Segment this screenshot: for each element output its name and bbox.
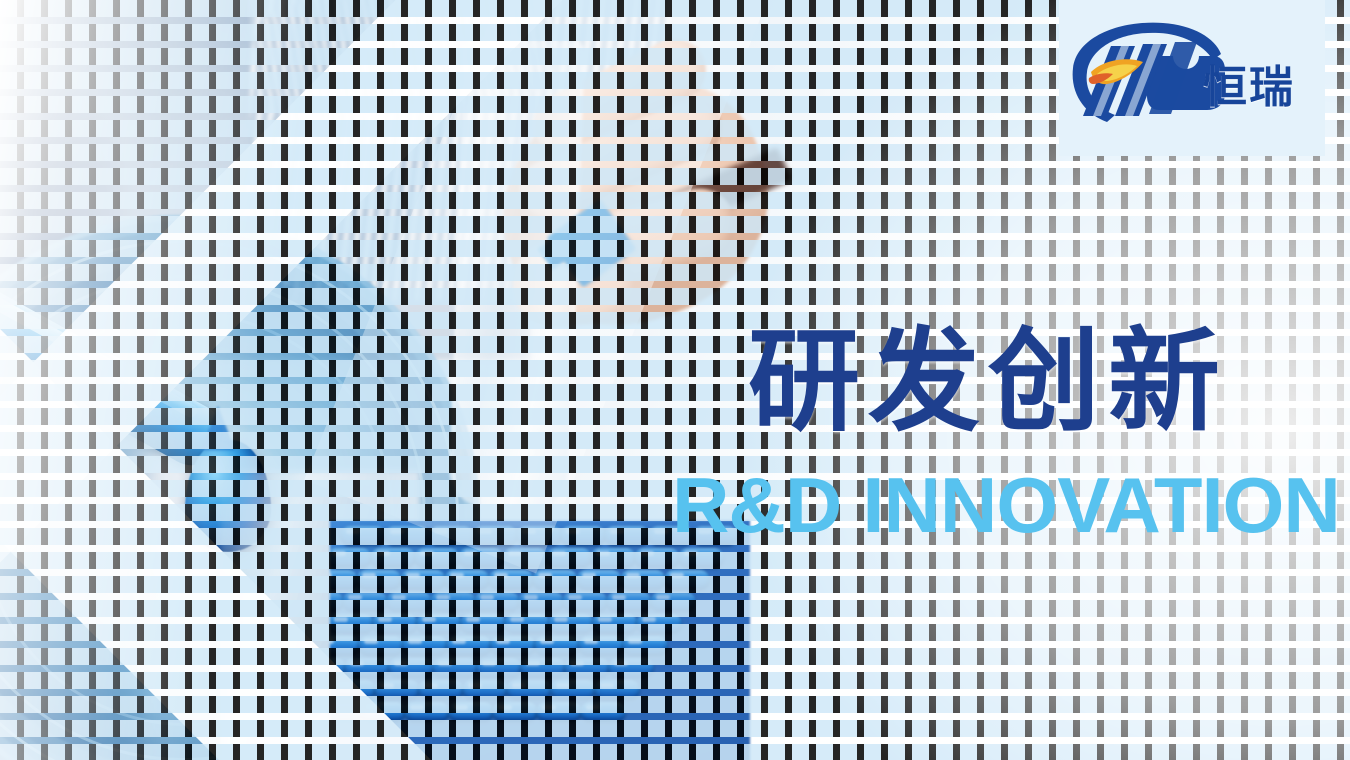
capsule	[620, 570, 666, 590]
logo-wordmark: 恒瑞	[1203, 66, 1295, 110]
capsule	[650, 592, 696, 612]
page-title-cn: 研发创新	[748, 326, 1228, 438]
capsule	[330, 614, 374, 634]
capsule	[474, 592, 520, 612]
capsule	[400, 570, 446, 590]
capsule	[416, 614, 462, 634]
capsule	[414, 548, 460, 568]
capsule	[462, 680, 508, 700]
capsule	[502, 548, 548, 568]
capsule	[546, 548, 592, 568]
capsule	[664, 570, 710, 590]
capsule	[678, 548, 724, 568]
rd-innovation-banner: 恒瑞 研发创新 R&D INNOVATION	[0, 0, 1350, 760]
capsule	[418, 680, 464, 700]
capsule	[634, 548, 680, 568]
capsule	[460, 614, 506, 634]
capsule	[490, 636, 536, 656]
capsule	[604, 526, 650, 546]
capsule	[330, 636, 360, 656]
capsule	[548, 614, 594, 634]
capsule	[428, 526, 474, 546]
capsule	[518, 592, 564, 612]
capsule	[608, 658, 654, 678]
capsule	[560, 526, 606, 546]
page-subtitle-en: R&D INNOVATION	[672, 466, 1340, 544]
capsule	[516, 526, 562, 546]
capsule	[606, 592, 652, 612]
capsule	[388, 658, 434, 678]
capsule	[356, 570, 402, 590]
capsule	[564, 658, 610, 678]
capsule	[622, 636, 668, 656]
capsule	[372, 614, 418, 634]
capsule	[458, 548, 504, 568]
capsule	[580, 702, 626, 722]
capsule	[476, 658, 522, 678]
capsule	[404, 702, 450, 722]
capsule	[432, 658, 478, 678]
capsule	[330, 680, 376, 700]
test-tube	[449, 38, 585, 512]
capsule	[358, 636, 404, 656]
capsule	[562, 592, 608, 612]
capsule	[532, 570, 578, 590]
capsule	[492, 702, 538, 722]
capsule	[536, 702, 582, 722]
capsule	[444, 570, 490, 590]
capsule	[520, 658, 566, 678]
capsule	[386, 592, 432, 612]
capsule	[576, 570, 622, 590]
blue-capsules-photo	[330, 520, 750, 760]
capsule	[594, 680, 640, 700]
capsule	[534, 636, 580, 656]
capsule	[430, 592, 476, 612]
company-logo[interactable]: 恒瑞	[1063, 16, 1325, 142]
capsule	[344, 658, 390, 678]
capsule	[402, 636, 448, 656]
capsule	[590, 548, 636, 568]
capsule	[384, 526, 430, 546]
capsule	[342, 592, 388, 612]
capsule	[374, 680, 420, 700]
capsule	[360, 702, 406, 722]
capsule	[330, 702, 362, 722]
capsule	[504, 614, 550, 634]
capsule	[636, 614, 682, 634]
capsule	[330, 570, 358, 590]
capsule	[370, 548, 416, 568]
capsule	[550, 680, 596, 700]
capsule	[578, 636, 624, 656]
capsule	[592, 614, 638, 634]
capsule	[488, 570, 534, 590]
capsule	[506, 680, 552, 700]
capsule	[448, 702, 494, 722]
capsule	[446, 636, 492, 656]
capsule	[330, 548, 372, 568]
capsule	[472, 526, 518, 546]
capsule	[340, 526, 386, 546]
